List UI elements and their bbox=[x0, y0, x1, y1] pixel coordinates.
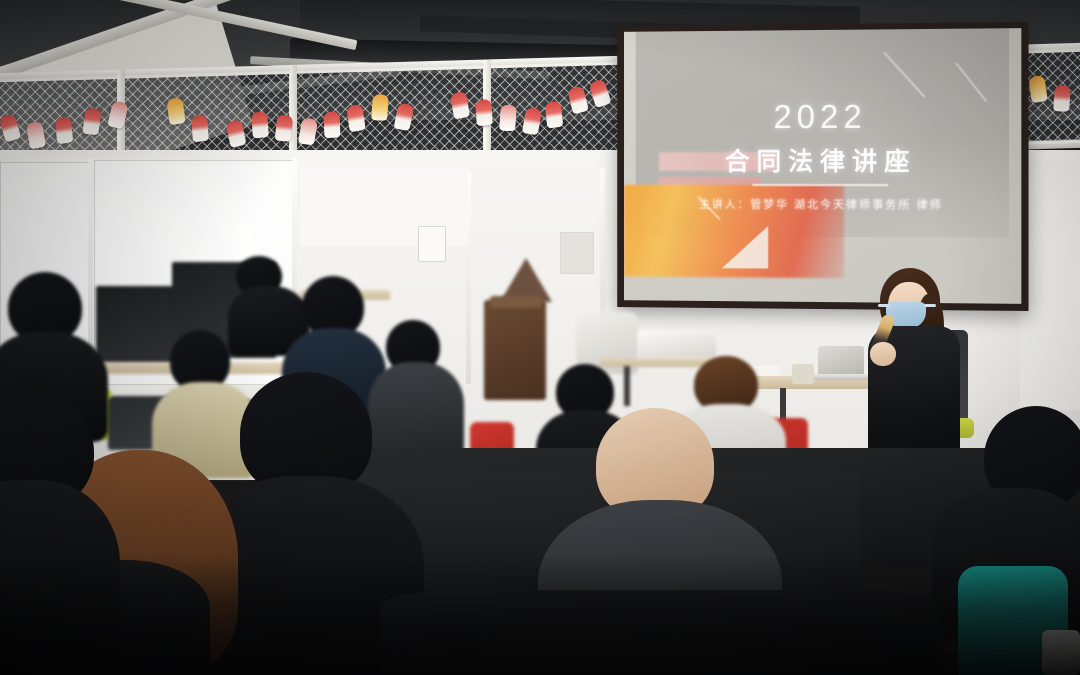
cup-on-desk bbox=[792, 364, 814, 384]
wooden-cabinet bbox=[484, 300, 546, 400]
speaker-hand bbox=[870, 342, 896, 366]
foreground-shoulders bbox=[380, 590, 940, 675]
lecture-photo-scene: 2022 合同法律讲座 主讲人：管梦华 湖北今天律师事务所 律师 bbox=[0, 0, 1080, 675]
slide-divider-rule bbox=[753, 184, 888, 186]
mask-ear-loop bbox=[924, 304, 936, 307]
mask-ear-loop bbox=[878, 304, 890, 307]
paper-notice bbox=[560, 232, 594, 274]
projector-device bbox=[638, 330, 716, 358]
wall-column bbox=[1020, 160, 1080, 410]
cabinet-top bbox=[490, 296, 542, 308]
slide-title-text: 合同法律讲座 bbox=[624, 141, 1021, 177]
projection-screen-surface: 2022 合同法律讲座 主讲人：管梦华 湖北今天律师事务所 律师 bbox=[624, 28, 1021, 304]
white-item bbox=[1042, 630, 1080, 675]
slide-year-text: 2022 bbox=[624, 97, 1021, 136]
paper-notice bbox=[418, 226, 446, 262]
slide-subtitle-text: 主讲人：管梦华 湖北今天律师事务所 律师 bbox=[624, 196, 1021, 213]
stand-leg bbox=[624, 366, 630, 406]
